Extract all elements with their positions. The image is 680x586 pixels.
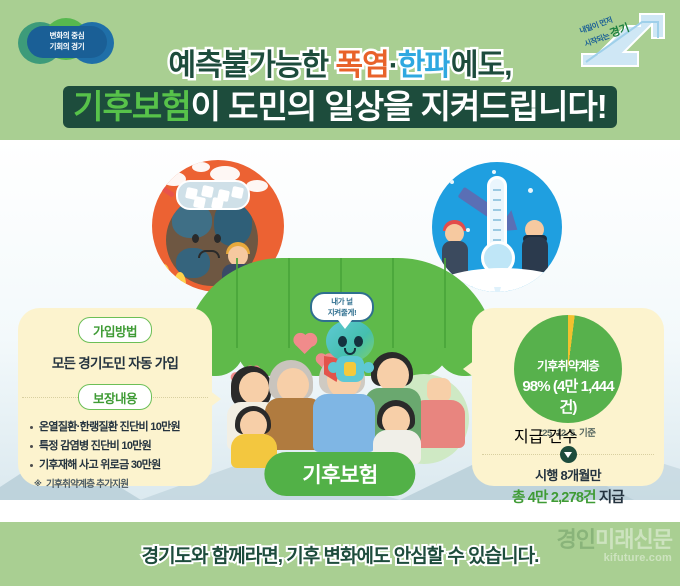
family-member-boy xyxy=(231,406,279,460)
coverage-info-panel: 가입방법 모든 경기도민 자동 가입 보장내용 온열질환·한랭질환 진단비 10… xyxy=(18,308,212,486)
father-head xyxy=(377,358,409,392)
payout-donut-chart: 지급 건수 기후취약계층 98% (4만 1,444건) xyxy=(514,315,622,423)
donut-caption-line2: 98% (4만 1,444건) xyxy=(514,375,622,417)
earth-mouth xyxy=(198,250,220,258)
mascot-speech-bubble: 내가 널 지켜줄게! xyxy=(310,292,374,322)
ice-cube-4 xyxy=(231,186,244,199)
title-separator-dot: · xyxy=(389,49,398,82)
snow-flake-5 xyxy=(492,170,496,174)
bubble-line2: 지켜줄게! xyxy=(328,307,357,318)
mascot-chest-badge xyxy=(344,362,356,376)
result-total-value: 총 4만 2,278건 xyxy=(512,490,596,506)
donut-caption: 기후취약계층 98% (4만 1,444건) xyxy=(514,357,622,417)
thermometer-tick xyxy=(493,229,501,231)
ice-cube-5 xyxy=(193,196,206,209)
icicle xyxy=(550,288,557,292)
result-period: 시행 8개월만 xyxy=(472,465,664,484)
ice-pack-icon xyxy=(176,180,250,210)
title-line-1: 예측불가능한 폭염·한파에도, xyxy=(0,48,680,84)
donut-center-label: 지급 건수 xyxy=(514,423,622,447)
list-item: 기후재해 사고 위로금 30만원 xyxy=(30,456,212,475)
flame-icon-1 xyxy=(158,264,170,282)
coverage-note: 기후취약계층 추가지원 xyxy=(30,477,212,493)
poster-footer: 경기도와 함께라면, 기후 변화에도 안심할 수 있습니다. xyxy=(0,522,680,586)
poster-title: 예측불가능한 폭염·한파에도, 기후보험이 도민의 일상을 지켜드립니다! xyxy=(0,48,680,128)
snow-flake-2 xyxy=(528,188,533,193)
result-total-row: 총 4만 2,278건 지급 xyxy=(472,486,664,507)
chevron-down-icon xyxy=(560,446,577,463)
title-keyword-climate-insurance: 기후보험 xyxy=(73,88,190,125)
enrollment-badge-row: 가입방법 xyxy=(18,317,212,343)
raised-hand xyxy=(427,378,451,402)
poster-header: 변화의 중심 기회의 경기 내일이 먼저 시작되는 경기 예측불가능한 폭염·한… xyxy=(0,0,680,152)
title-heatwave-word: 폭염 xyxy=(335,49,388,82)
grandfather-body xyxy=(313,394,375,452)
thermometer-icon xyxy=(487,176,507,262)
icicle xyxy=(536,291,543,292)
result-total-suffix: 지급 xyxy=(596,490,624,506)
umbrella-rib xyxy=(288,258,290,354)
icicle xyxy=(508,290,515,292)
title-line1-part-b: 에도, xyxy=(451,49,512,82)
steam-puff-4 xyxy=(192,162,210,172)
list-item: 특정 감염병 진단비 10만원 xyxy=(30,437,212,456)
payout-stats-panel: 지급 건수 기후취약계층 98% (4만 1,444건) '25. 12. 5.… xyxy=(472,308,664,486)
family-member-girl xyxy=(373,400,425,460)
logo-text-line1: 변화의 중심 xyxy=(50,31,85,42)
coverage-list: 온열질환·한랭질환 진단비 10만원 특정 감염병 진단비 10만원 기후재해 … xyxy=(30,418,212,493)
badge-enrollment-method: 가입방법 xyxy=(78,317,152,343)
title-line-2: 기후보험이 도민의 일상을 지켜드립니다! xyxy=(63,86,617,128)
bubble-line1: 내가 널 xyxy=(331,296,353,307)
thermometer-tick xyxy=(493,209,501,211)
grandmother-head xyxy=(277,368,309,402)
snow-flake-1 xyxy=(450,180,454,184)
list-item: 온열질환·한랭질환 진단비 10만원 xyxy=(30,418,212,437)
mascot-eye-left xyxy=(338,336,347,347)
mascot-eye-right xyxy=(354,336,363,347)
ice-cube-6 xyxy=(211,197,224,210)
umbrella-label-chip: 기후보험 xyxy=(264,452,415,496)
title-coldwave-word: 한파 xyxy=(398,49,451,82)
earth-eye-left xyxy=(192,234,199,243)
title-line1-part-a: 예측불가능한 xyxy=(169,49,336,82)
cold-person-right xyxy=(522,220,548,272)
donut-center-line1: 지급 xyxy=(514,429,543,446)
umbrella-rib xyxy=(392,258,394,354)
footer-slogan: 경기도와 함께라면, 기후 변화에도 안심할 수 있습니다. xyxy=(142,541,539,568)
cold-person-coat xyxy=(522,237,548,272)
title-line2-rest: 이 도민의 일상을 지켜드립니다! xyxy=(191,88,607,125)
umbrella-rib xyxy=(236,258,238,354)
donut-caption-line1: 기후취약계층 xyxy=(514,357,622,374)
mascot-arm-left xyxy=(328,362,339,373)
icicle xyxy=(522,286,529,292)
badge-coverage-content: 보장내용 xyxy=(78,384,152,410)
ice-cube-2 xyxy=(201,185,214,198)
thermometer-tick xyxy=(493,199,501,201)
donut-center-line2: 건수 xyxy=(548,429,577,446)
poster-root: 변화의 중심 기회의 경기 내일이 먼저 시작되는 경기 예측불가능한 폭염·한… xyxy=(0,0,680,586)
thermometer-tick xyxy=(493,189,501,191)
thermometer-tick xyxy=(493,219,501,221)
mascot-arm-right xyxy=(363,362,374,373)
umbrella-rib xyxy=(444,258,446,354)
coverage-badge-row: 보장내용 xyxy=(18,384,212,410)
enrollment-description: 모든 경기도민 자동 가입 xyxy=(18,352,212,372)
arrow-divider-row xyxy=(472,446,664,462)
